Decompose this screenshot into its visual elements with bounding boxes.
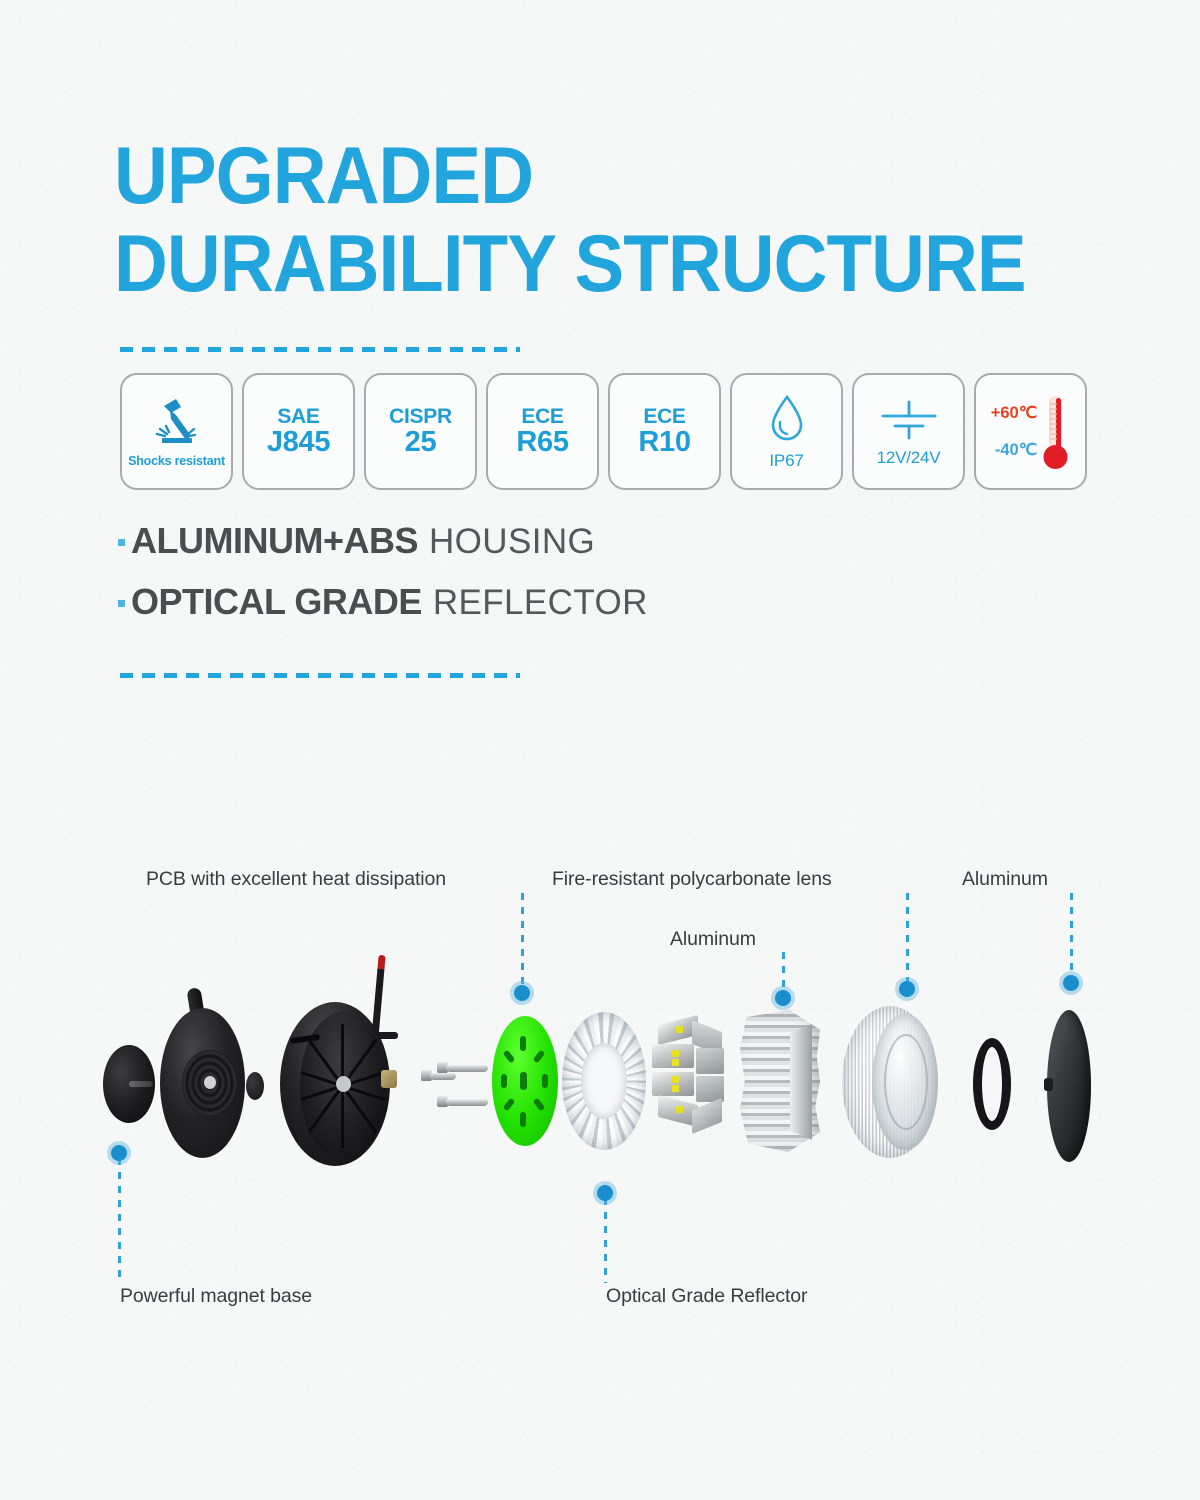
badge-line-1: CISPR (389, 406, 452, 428)
part-optical-reflector (562, 1012, 646, 1150)
certification-badge-row: Shocks resistant SAE J845 CISPR 25 ECE R… (120, 373, 1087, 490)
leader-line-pcb (521, 893, 524, 989)
badge-voltage[interactable]: 12V/24V (852, 373, 965, 490)
callout-label-pcb-heat-dissipation: PCB with excellent heat dissipation (146, 868, 446, 891)
part-front-bezel (1047, 1010, 1091, 1162)
part-bezel-nub (1044, 1078, 1053, 1091)
badge-text: SAE J845 (267, 406, 330, 458)
badge-ece-r10[interactable]: ECE R10 (608, 373, 721, 490)
feature-strong-text: OPTICAL GRADE (131, 581, 422, 623)
leader-line-lens (906, 893, 909, 985)
part-housing-hub (336, 1076, 351, 1092)
callout-label-polycarbonate-lens: Fire-resistant polycarbonate lens (552, 868, 832, 891)
bullet-square-icon (118, 600, 125, 607)
leader-dot-lens (899, 981, 915, 997)
badge-shocks-resistant[interactable]: Shocks resistant (120, 373, 233, 490)
badge-line-1: SAE (267, 406, 330, 428)
callout-label-magnet-base: Powerful magnet base (120, 1285, 312, 1308)
battery-cell-icon (877, 396, 941, 442)
callout-label-aluminum-middle: Aluminum (670, 928, 756, 951)
dashed-divider-bottom (120, 673, 520, 678)
feature-light-text: HOUSING (429, 522, 595, 562)
part-screw-long (446, 1064, 488, 1072)
feature-item-reflector: OPTICAL GRADE REFLECTOR (118, 581, 648, 623)
part-led-boards (650, 1018, 726, 1144)
page-title: UPGRADED DURABILITY STRUCTURE (114, 132, 1114, 308)
leader-dot-aluminum-right (1063, 975, 1079, 991)
badge-caption: 12V/24V (877, 448, 941, 468)
badge-line-1: ECE (638, 406, 690, 428)
infographic-page: UPGRADED DURABILITY STRUCTURE Shocks res… (0, 0, 1200, 1500)
leader-line-reflector (604, 1198, 607, 1283)
part-rubber-nub (246, 1072, 264, 1100)
water-drop-icon (765, 393, 809, 445)
thermometer-icon (1040, 392, 1070, 472)
badge-line-1: ECE (516, 406, 568, 428)
bullet-square-icon (118, 539, 125, 546)
hammer-impact-icon (150, 396, 204, 448)
part-pcb-green-board (492, 1016, 558, 1146)
leader-line-aluminum-right (1070, 893, 1073, 979)
badge-text: ECE R10 (638, 406, 690, 458)
leader-line-magnet (118, 1158, 121, 1283)
badge-text: ECE R65 (516, 406, 568, 458)
feature-strong-text: ALUMINUM+ABS (131, 520, 418, 562)
callout-label-optical-grade-reflector: Optical Grade Reflector (606, 1285, 807, 1308)
leader-line-aluminum-middle (782, 952, 785, 994)
badge-ece-r65[interactable]: ECE R65 (486, 373, 599, 490)
title-line-1: UPGRADED (114, 132, 1034, 220)
badge-line-2: R10 (638, 427, 690, 457)
leader-dot-aluminum-middle (775, 990, 791, 1006)
badge-text: CISPR 25 (389, 406, 452, 458)
part-magnet-cap (103, 1045, 155, 1123)
badge-line-2: J845 (267, 427, 330, 457)
part-screw-short (430, 1072, 456, 1080)
badge-sae-j845[interactable]: SAE J845 (242, 373, 355, 490)
leader-dot-magnet (111, 1145, 127, 1161)
temp-high-label: +60℃ (991, 403, 1038, 423)
temp-low-label: -40℃ (995, 440, 1037, 460)
badge-temperature-range[interactable]: +60℃ -40℃ (974, 373, 1087, 490)
badge-cispr-25[interactable]: CISPR 25 (364, 373, 477, 490)
feature-item-housing: ALUMINUM+ABS HOUSING (118, 520, 648, 562)
part-brass-nut (381, 1070, 397, 1088)
part-heatsink-fin (790, 1024, 812, 1140)
badge-ip67[interactable]: IP67 (730, 373, 843, 490)
badge-caption: IP67 (769, 451, 803, 471)
part-lens-ring (884, 1034, 928, 1130)
part-screw-long (446, 1098, 488, 1106)
leader-dot-pcb (514, 985, 530, 1001)
title-line-2: DURABILITY STRUCTURE (114, 220, 1034, 308)
badge-line-2: 25 (389, 427, 452, 457)
feature-light-text: REFLECTOR (433, 583, 648, 623)
leader-dot-reflector (597, 1185, 613, 1201)
part-wire-lead (371, 955, 385, 1039)
feature-list: ALUMINUM+ABS HOUSING OPTICAL GRADE REFLE… (118, 520, 648, 642)
callout-label-aluminum-right: Aluminum (962, 868, 1048, 891)
part-magnet-base (160, 1008, 245, 1158)
badge-line-2: R65 (516, 427, 568, 457)
dashed-divider-top (120, 347, 520, 352)
part-wire-foot (371, 1032, 398, 1039)
badge-caption: Shocks resistant (128, 454, 225, 468)
part-o-ring-gasket (973, 1038, 1011, 1130)
